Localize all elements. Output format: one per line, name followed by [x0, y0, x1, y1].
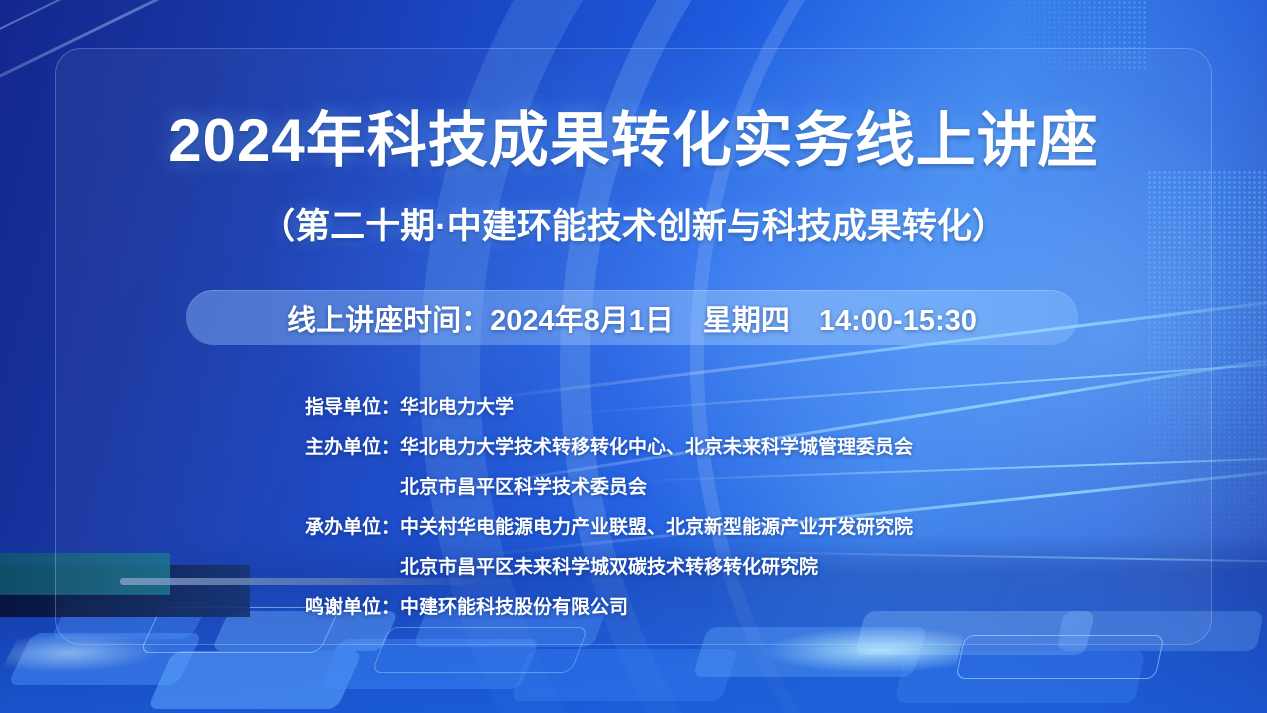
poster-canvas: 2024年科技成果转化实务线上讲座 （第二十期·中建环能技术创新与科技成果转化）…: [0, 0, 1267, 713]
organization-label: 鸣谢单位：: [0, 592, 400, 619]
organization-label: 指导单位：: [0, 392, 400, 419]
time-banner: 线上讲座时间：2024年8月1日 星期四 14:00-15:30: [186, 290, 1078, 345]
organization-value: 北京市昌平区未来科学城双碳技术转移转化研究院: [400, 552, 818, 579]
organization-row: 北京市昌平区科学技术委员会: [0, 472, 1267, 512]
organization-value: 北京市昌平区科学技术委员会: [400, 472, 647, 499]
organization-list: 指导单位： 华北电力大学 主办单位： 华北电力大学技术转移转化中心、北京未来科学…: [0, 392, 1267, 632]
organization-value: 华北电力大学: [400, 392, 514, 419]
poster-content: 2024年科技成果转化实务线上讲座 （第二十期·中建环能技术创新与科技成果转化）…: [0, 0, 1267, 713]
page-subtitle: （第二十期·中建环能技术创新与科技成果转化）: [0, 198, 1267, 249]
page-title: 2024年科技成果转化实务线上讲座: [0, 92, 1267, 179]
time-banner-text: 线上讲座时间：2024年8月1日 星期四 14:00-15:30: [186, 290, 1078, 345]
organization-row: 承办单位： 中关村华电能源电力产业联盟、北京新型能源产业开发研究院: [0, 512, 1267, 552]
organization-row: 指导单位： 华北电力大学: [0, 392, 1267, 432]
organization-value: 中建环能科技股份有限公司: [400, 592, 628, 619]
organization-row: 北京市昌平区未来科学城双碳技术转移转化研究院: [0, 552, 1267, 592]
organization-value: 华北电力大学技术转移转化中心、北京未来科学城管理委员会: [400, 432, 913, 459]
organization-label: 承办单位：: [0, 512, 400, 539]
organization-label: 主办单位：: [0, 432, 400, 459]
organization-value: 中关村华电能源电力产业联盟、北京新型能源产业开发研究院: [400, 512, 913, 539]
organization-row: 鸣谢单位： 中建环能科技股份有限公司: [0, 592, 1267, 632]
organization-row: 主办单位： 华北电力大学技术转移转化中心、北京未来科学城管理委员会: [0, 432, 1267, 472]
